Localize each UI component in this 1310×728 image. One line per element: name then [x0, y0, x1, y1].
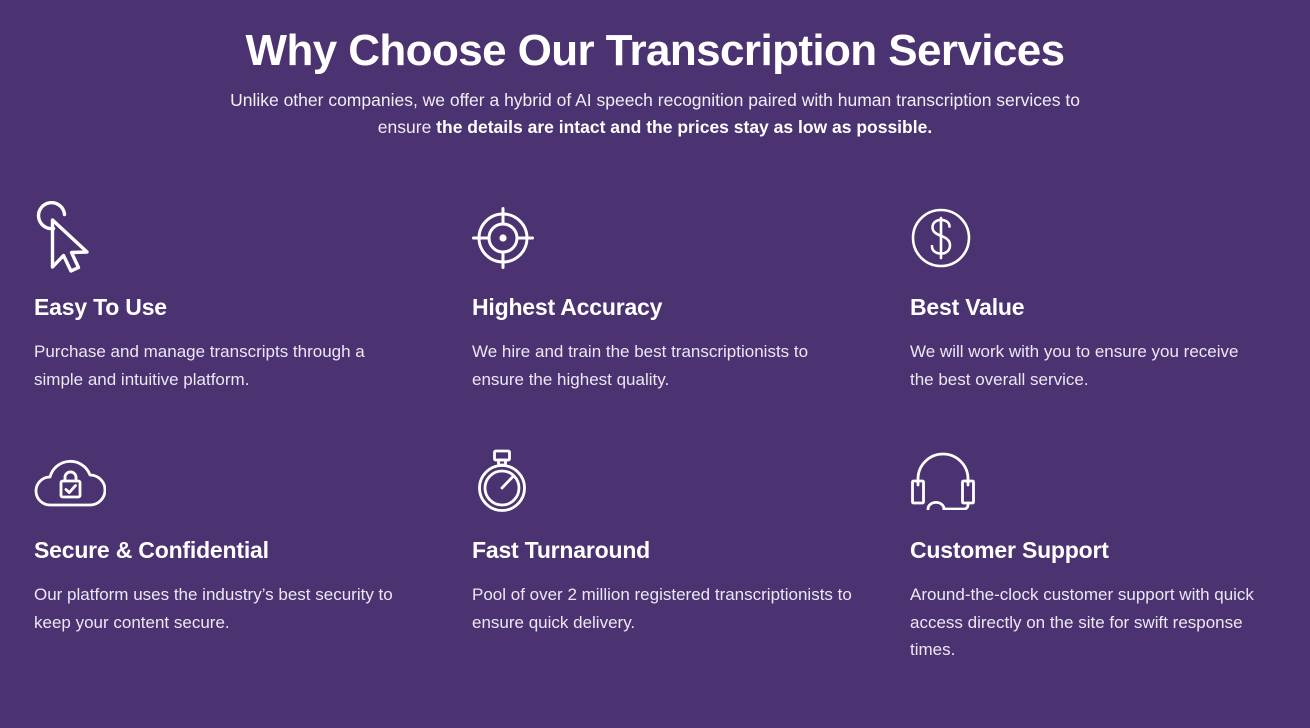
target-crosshair-icon: [472, 196, 882, 280]
feature-description: Around-the-clock customer support with q…: [910, 581, 1266, 664]
stopwatch-icon: [472, 439, 882, 523]
feature-title: Highest Accuracy: [472, 294, 882, 321]
feature-title: Fast Turnaround: [472, 537, 882, 564]
feature-title: Easy To Use: [34, 294, 444, 321]
feature-grid: Easy To Use Purchase and manage transcri…: [34, 196, 1294, 664]
headset-support-icon: [910, 439, 1266, 523]
subtitle-emphasis: the details are intact and the prices st…: [436, 117, 932, 137]
cloud-lock-icon: [34, 439, 444, 523]
cursor-pointer-icon: [34, 196, 444, 280]
feature-card-fast-turnaround: Fast Turnaround Pool of over 2 million r…: [472, 439, 910, 664]
dollar-circle-icon: [910, 196, 1266, 280]
feature-description: Purchase and manage transcripts through …: [34, 338, 416, 393]
feature-title: Customer Support: [910, 537, 1266, 564]
feature-card-easy-to-use: Easy To Use Purchase and manage transcri…: [34, 196, 472, 393]
feature-description: We will work with you to ensure you rece…: [910, 338, 1266, 393]
why-choose-section: Why Choose Our Transcription Services Un…: [0, 0, 1310, 728]
section-subtitle: Unlike other companies, we offer a hybri…: [215, 87, 1095, 141]
feature-description: Pool of over 2 million registered transc…: [472, 581, 854, 636]
feature-card-best-value: Best Value We will work with you to ensu…: [910, 196, 1294, 393]
feature-title: Secure & Confidential: [34, 537, 444, 564]
section-header: Why Choose Our Transcription Services Un…: [0, 0, 1310, 142]
feature-card-highest-accuracy: Highest Accuracy We hire and train the b…: [472, 196, 910, 393]
page-title: Why Choose Our Transcription Services: [0, 26, 1310, 75]
feature-description: We hire and train the best transcription…: [472, 338, 854, 393]
feature-title: Best Value: [910, 294, 1266, 321]
feature-description: Our platform uses the industry’s best se…: [34, 581, 416, 636]
feature-card-secure-confidential: Secure & Confidential Our platform uses …: [34, 439, 472, 664]
feature-card-customer-support: Customer Support Around-the-clock custom…: [910, 439, 1294, 664]
